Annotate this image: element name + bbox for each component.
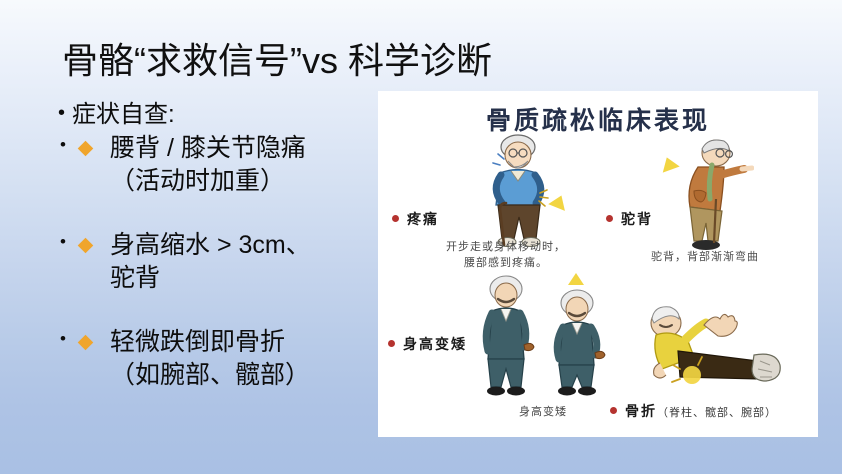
label-hunchback-text: 驼背 xyxy=(621,212,653,228)
label-height-loss-text: 身高变矮 xyxy=(403,337,467,353)
label-hunchback: 驼背 xyxy=(606,209,653,229)
bullet-dot-icon: • xyxy=(58,229,80,255)
red-dot-icon xyxy=(388,340,395,347)
hunched-elderly-man-illustration xyxy=(668,133,754,255)
diamond-bullet-icon xyxy=(78,238,94,254)
list-item-label: 腰背 / 膝关节隐痛 （活动时加重） xyxy=(110,132,378,197)
caption-pain: 开步走或身体移动时， 腰部感到疼痛。 xyxy=(426,239,586,271)
red-dot-icon xyxy=(610,407,617,414)
list-item-label: 轻微跌倒即骨折 （如腕部、髋部） xyxy=(110,326,378,391)
symptom-self-check-list: • 症状自查: • 腰背 / 膝关节隐痛 （活动时加重） • 身高缩水 > 3c… xyxy=(58,100,378,391)
list-item: • 轻微跌倒即骨折 （如腕部、髋部） xyxy=(58,326,378,391)
label-pain-text: 疼痛 xyxy=(407,212,439,228)
red-dot-icon xyxy=(392,215,399,222)
clinical-manifestation-image: 骨质疏松临床表现 xyxy=(378,91,818,437)
list-item: • 症状自查: xyxy=(58,100,378,130)
diamond-bullet-icon xyxy=(78,335,94,351)
presentation-slide: 骨骼“求救信号”vs 科学诊断 • 症状自查: • 腰背 / 膝关节隐痛 （活动… xyxy=(0,0,842,474)
list-spacer xyxy=(58,197,378,229)
label-fracture-text: 骨折 xyxy=(625,404,657,420)
figure-title: 骨质疏松临床表现 xyxy=(378,101,818,137)
list-item-label: 症状自查: xyxy=(72,100,378,130)
list-spacer xyxy=(58,294,378,326)
list-item: • 身高缩水 > 3cm、 驼背 xyxy=(58,229,378,294)
caption-height-loss: 身高变矮 xyxy=(478,404,608,420)
tall-man-suit-illustration xyxy=(474,273,538,399)
bullet-dot-icon: • xyxy=(58,132,80,158)
list-item: • 腰背 / 膝关节隐痛 （活动时加重） xyxy=(58,132,378,197)
red-dot-icon xyxy=(606,215,613,222)
label-pain: 疼痛 xyxy=(392,209,439,229)
label-height-loss: 身高变矮 xyxy=(388,334,467,354)
bullet-dot-icon: • xyxy=(58,100,72,127)
page-title: 骨骼“求救信号”vs 科学诊断 xyxy=(62,40,802,82)
elderly-man-with-cane-illustration xyxy=(478,133,564,251)
list-item-label: 身高缩水 > 3cm、 驼背 xyxy=(110,229,378,294)
label-fracture-suffix: （脊柱、髋部、腕部） xyxy=(657,406,777,419)
bullet-dot-icon: • xyxy=(58,326,80,352)
label-fracture: 骨折（脊柱、髋部、腕部） xyxy=(610,401,777,421)
falling-elderly-person-illustration xyxy=(636,299,786,395)
diamond-bullet-icon xyxy=(78,141,94,157)
short-man-suit-illustration xyxy=(546,287,608,399)
height-loss-spark-icon xyxy=(568,273,584,285)
caption-hunchback: 驼背，背部渐渐弯曲 xyxy=(610,249,800,265)
